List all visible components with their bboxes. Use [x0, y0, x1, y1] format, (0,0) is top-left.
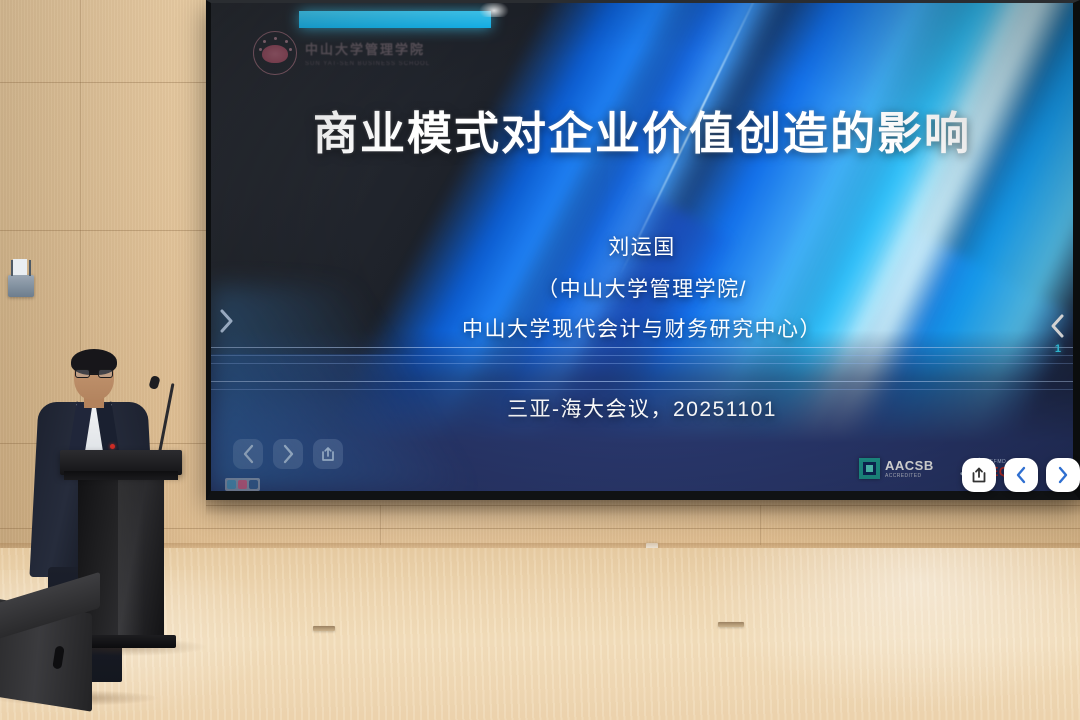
- presentation-photo: 中山大学管理学院 SUN YAT-SEN BUSINESS SCHOOL 商业模…: [0, 0, 1080, 720]
- prev-button[interactable]: [1004, 458, 1038, 492]
- wireless-access-point: [8, 275, 34, 297]
- screen-shadow: [206, 500, 1080, 516]
- slide-speaker-name: 刘运国: [211, 231, 1073, 261]
- slide-nav-controls-left: [233, 439, 343, 469]
- share-icon: [320, 446, 336, 462]
- edge-prev-arrow[interactable]: [1049, 313, 1065, 344]
- sun-yat-sen-university-seal-icon: [253, 31, 297, 75]
- wall-seam: [0, 230, 206, 231]
- slide-affiliation-line-2: 中山大学现代会计与财务研究中心）: [211, 313, 1073, 343]
- lectern-top-face: [64, 471, 178, 480]
- screen-specular-highlight: [479, 3, 509, 17]
- ap-antenna: [11, 260, 13, 276]
- university-logo-text: 中山大学管理学院 SUN YAT-SEN BUSINESS SCHOOL: [305, 39, 430, 67]
- seal-star: [263, 40, 266, 43]
- slide-affiliation-line-1: （中山大学管理学院/: [211, 273, 1073, 303]
- floor-vent: [313, 626, 335, 631]
- taskbar-icons[interactable]: [225, 478, 260, 491]
- chevron-left-icon: [241, 444, 256, 464]
- aacsb-logo: AACSB ACCREDITED: [859, 458, 934, 479]
- floor-light-reflection: [680, 548, 1080, 720]
- chevron-right-icon: [281, 444, 296, 464]
- university-name-en: SUN YAT-SEN BUSINESS SCHOOL: [305, 61, 430, 67]
- lens-right: [98, 369, 113, 378]
- lapel-pin: [110, 444, 115, 449]
- app-icon-2[interactable]: [238, 480, 247, 489]
- floor-vent: [718, 622, 744, 627]
- page-indicator: 1: [1055, 343, 1061, 355]
- divider-line: [211, 363, 1073, 364]
- next-button[interactable]: [273, 439, 303, 469]
- floor-monitor-speaker: [0, 588, 122, 704]
- ap-plate: [13, 259, 27, 275]
- ap-antenna: [29, 260, 31, 276]
- chevron-right-icon: [1054, 465, 1072, 485]
- next-button[interactable]: [1046, 458, 1080, 492]
- university-logo: 中山大学管理学院 SUN YAT-SEN BUSINESS SCHOOL: [253, 31, 430, 75]
- divider-line: [211, 389, 1073, 390]
- lens-left: [75, 369, 90, 378]
- chevron-left-icon: [1049, 313, 1065, 339]
- aacsb-logo-icon: [859, 458, 880, 479]
- slide-top-accent-bar: [299, 11, 491, 28]
- seal-star: [285, 40, 288, 43]
- app-icon-1[interactable]: [227, 480, 236, 489]
- chevron-right-icon: [219, 308, 235, 334]
- edge-next-arrow[interactable]: [219, 308, 235, 339]
- seal-star: [274, 37, 277, 40]
- share-icon: [970, 466, 988, 484]
- share-button[interactable]: [962, 458, 996, 492]
- chevron-left-icon: [1012, 465, 1030, 485]
- divider-line: [211, 347, 1073, 348]
- app-icon-3[interactable]: [249, 480, 258, 489]
- eyeglasses-icon: [75, 369, 113, 378]
- slide-title: 商业模式对企业价值创造的影响: [211, 97, 1073, 162]
- share-button[interactable]: [313, 439, 343, 469]
- seal-star: [289, 48, 292, 51]
- floating-action-buttons: [962, 458, 1080, 492]
- glasses-bridge: [90, 373, 98, 374]
- divider-line: [211, 355, 1073, 356]
- led-display-screen: 中山大学管理学院 SUN YAT-SEN BUSINESS SCHOOL 商业模…: [206, 0, 1080, 500]
- divider-line: [211, 381, 1073, 382]
- seal-petal: [262, 45, 288, 63]
- aacsb-subtitle: ACCREDITED: [885, 474, 934, 479]
- aacsb-name: AACSB: [885, 459, 934, 472]
- slide-event-info: 三亚-海大会议，20251101: [211, 393, 1073, 423]
- prev-button[interactable]: [233, 439, 263, 469]
- wall-seam: [0, 82, 210, 83]
- slide-surface: 中山大学管理学院 SUN YAT-SEN BUSINESS SCHOOL 商业模…: [211, 3, 1073, 491]
- university-name-cn: 中山大学管理学院: [305, 39, 430, 58]
- aacsb-text: AACSB ACCREDITED: [885, 459, 934, 479]
